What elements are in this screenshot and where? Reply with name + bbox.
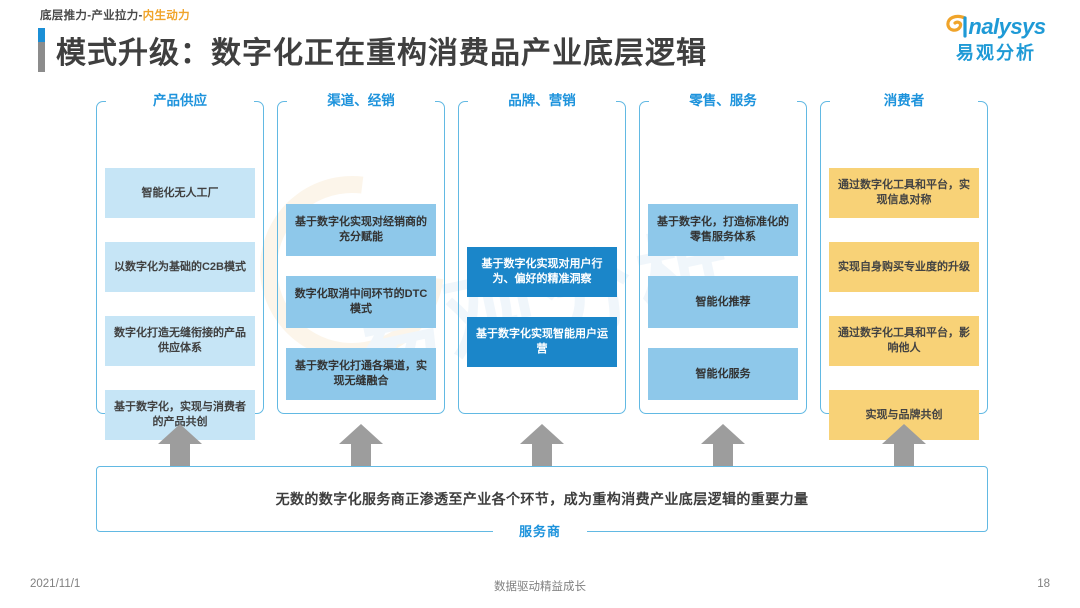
kicker-line: 底层推力-产业拉力-内生动力 (40, 7, 190, 23)
column-title: 渠道、经销 (287, 92, 435, 109)
arrow-slot (639, 424, 807, 468)
column-body: 智能化无人工厂以数字化为基础的C2B模式数字化打造无缝衔接的产品供应体系基于数字… (96, 118, 264, 414)
pillar-cell: 基于数字化实现对用户行为、偏好的精准洞察 (467, 247, 617, 297)
kicker-plain: 底层推力-产业拉力- (40, 10, 143, 22)
page-title-wrap: 模式升级：数字化正在重构消费品产业底层逻辑 (38, 28, 707, 72)
brand-logo: nalysys 易观分析 (930, 12, 1062, 65)
column-title: 品牌、营销 (468, 92, 616, 109)
footer: 2021/11/1 数据驱动精益成长 18 (0, 578, 1080, 594)
service-provider-label: 服务商 (493, 524, 587, 539)
up-arrow-icon (339, 424, 383, 466)
pillar-column: 消费者通过数字化工具和平台，实现信息对称实现自身购买专业度的升级通过数字化工具和… (820, 92, 988, 414)
kicker-highlight: 内生动力 (143, 10, 190, 22)
column-body: 基于数字化，打造标准化的零售服务体系智能化推荐智能化服务 (639, 118, 807, 414)
logo-swoosh-icon (946, 14, 968, 38)
column-body: 基于数字化实现对用户行为、偏好的精准洞察基于数字化实现智能用户运营 (458, 118, 626, 414)
logo-top-row: nalysys (930, 12, 1062, 38)
pillar-cell: 智能化无人工厂 (105, 168, 255, 218)
up-arrow-icon (882, 424, 926, 466)
up-arrow-icon (158, 424, 202, 466)
pillar-cell: 实现自身购买专业度的升级 (829, 242, 979, 292)
pillar-cell: 以数字化为基础的C2B模式 (105, 242, 255, 292)
footer-page-number: 18 (1037, 578, 1050, 590)
column-body: 通过数字化工具和平台，实现信息对称实现自身购买专业度的升级通过数字化工具和平台，… (820, 118, 988, 414)
service-provider-label-wrap: 服务商 (0, 521, 1080, 541)
up-arrow-icon (701, 424, 745, 466)
up-arrow-icon (520, 424, 564, 466)
column-title: 零售、服务 (649, 92, 797, 109)
title-accent-bar (38, 28, 45, 72)
pillar-cell: 通过数字化工具和平台，实现信息对称 (829, 168, 979, 218)
pillar-column: 零售、服务基于数字化，打造标准化的零售服务体系智能化推荐智能化服务 (639, 92, 807, 414)
arrow-row (96, 424, 988, 468)
pillar-cell: 基于数字化实现对经销商的充分赋能 (286, 204, 436, 256)
arrow-slot (96, 424, 264, 468)
arrow-slot (277, 424, 445, 468)
pillar-cell: 通过数字化工具和平台，影响他人 (829, 316, 979, 366)
pillar-column: 产品供应智能化无人工厂以数字化为基础的C2B模式数字化打造无缝衔接的产品供应体系… (96, 92, 264, 414)
logo-wordmark: nalysys (968, 16, 1045, 38)
pillar-cell: 基于数字化打通各渠道，实现无缝融合 (286, 348, 436, 400)
pillar-cell: 数字化打造无缝衔接的产品供应体系 (105, 316, 255, 366)
pillar-column: 品牌、营销基于数字化实现对用户行为、偏好的精准洞察基于数字化实现智能用户运营 (458, 92, 626, 414)
column-title: 消费者 (830, 92, 978, 109)
footer-slogan: 数据驱动精益成长 (0, 578, 1080, 594)
column-title: 产品供应 (106, 92, 254, 109)
arrow-slot (820, 424, 988, 468)
pillar-cell: 智能化服务 (648, 348, 798, 400)
arrow-slot (458, 424, 626, 468)
service-provider-text: 无数的数字化服务商正渗透至产业各个环节，成为重构消费产业底层逻辑的重要力量 (276, 489, 809, 509)
pillar-cell: 数字化取消中间环节的DTC模式 (286, 276, 436, 328)
page-title: 模式升级：数字化正在重构消费品产业底层逻辑 (56, 28, 707, 72)
pillar-columns: 产品供应智能化无人工厂以数字化为基础的C2B模式数字化打造无缝衔接的产品供应体系… (96, 92, 988, 414)
pillar-cell: 基于数字化，打造标准化的零售服务体系 (648, 204, 798, 256)
pillar-cell: 智能化推荐 (648, 276, 798, 328)
logo-chinese-name: 易观分析 (930, 39, 1062, 65)
column-body: 基于数字化实现对经销商的充分赋能数字化取消中间环节的DTC模式基于数字化打通各渠… (277, 118, 445, 414)
pillar-column: 渠道、经销基于数字化实现对经销商的充分赋能数字化取消中间环节的DTC模式基于数字… (277, 92, 445, 414)
pillar-cell: 基于数字化实现智能用户运营 (467, 317, 617, 367)
